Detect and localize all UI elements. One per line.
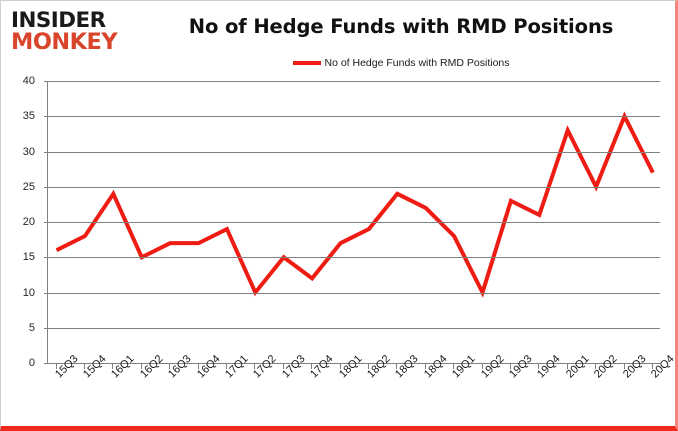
y-tickmark-15 bbox=[44, 257, 48, 258]
y-tick-label: 15 bbox=[23, 251, 35, 263]
logo-text-insider: INSIDER bbox=[11, 10, 131, 31]
gridline-15 bbox=[48, 257, 660, 258]
y-tick-label: 10 bbox=[23, 287, 35, 299]
plot-area: 0510152025303540 15Q315Q416Q116Q216Q316Q… bbox=[1, 81, 673, 381]
y-tickmark-35 bbox=[44, 116, 48, 117]
legend-color-swatch bbox=[293, 61, 321, 65]
series-polyline bbox=[57, 116, 653, 292]
logo-text-monkey: MONKEY bbox=[11, 32, 131, 54]
gridline-40 bbox=[48, 81, 660, 82]
gridline-30 bbox=[48, 152, 660, 153]
y-tick-label: 25 bbox=[23, 181, 35, 193]
y-tick-label: 20 bbox=[23, 216, 35, 228]
insider-monkey-logo: INSIDER MONKEY bbox=[11, 10, 129, 54]
gridline-10 bbox=[48, 293, 660, 294]
x-axis: 15Q315Q416Q116Q216Q316Q417Q117Q217Q317Q4… bbox=[47, 363, 659, 431]
gridline-35 bbox=[48, 116, 660, 117]
chart-legend: No of Hedge Funds with RMD Positions bbox=[141, 57, 661, 69]
y-tickmark-40 bbox=[44, 81, 48, 82]
gridline-20 bbox=[48, 222, 660, 223]
y-tick-label: 0 bbox=[29, 357, 35, 369]
y-tick-label: 5 bbox=[29, 322, 35, 334]
y-tickmark-10 bbox=[44, 293, 48, 294]
y-axis: 0510152025303540 bbox=[1, 81, 41, 363]
gridline-5 bbox=[48, 328, 660, 329]
plot-canvas bbox=[47, 81, 660, 363]
y-tickmark-20 bbox=[44, 222, 48, 223]
y-tickmark-30 bbox=[44, 152, 48, 153]
y-tickmark-25 bbox=[44, 187, 48, 188]
y-tick-label: 40 bbox=[23, 75, 35, 87]
gridline-25 bbox=[48, 187, 660, 188]
y-tick-label: 30 bbox=[23, 146, 35, 158]
chart-title: No of Hedge Funds with RMD Positions bbox=[141, 15, 661, 38]
y-tickmark-5 bbox=[44, 328, 48, 329]
y-tick-label: 35 bbox=[23, 110, 35, 122]
chart-screenshot: INSIDER MONKEY No of Hedge Funds with RM… bbox=[0, 0, 678, 431]
legend-item-label: No of Hedge Funds with RMD Positions bbox=[325, 57, 510, 69]
